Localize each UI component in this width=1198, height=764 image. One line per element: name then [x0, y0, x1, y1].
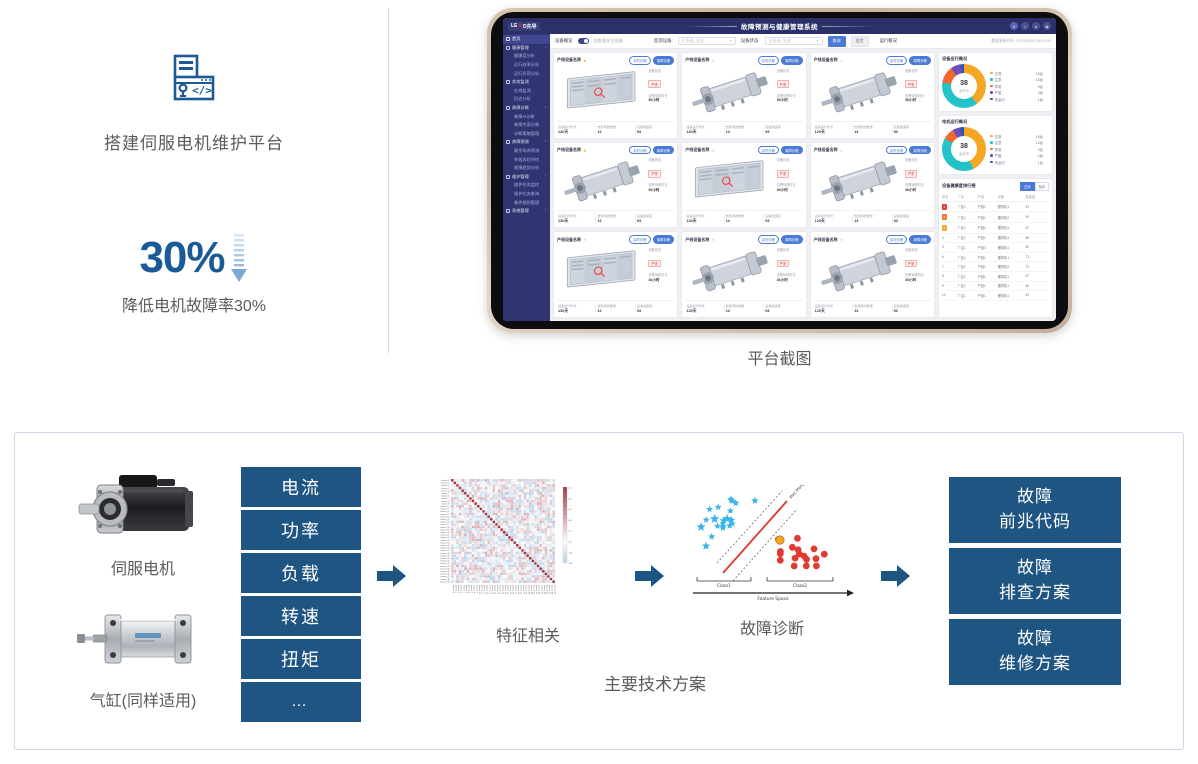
health-value: 93: [637, 309, 674, 313]
output-line1: 故障: [1017, 627, 1053, 652]
rank-cell: 5: [942, 243, 958, 253]
sidebar-item-19[interactable]: 备件规则管理: [503, 198, 550, 207]
svg-text:-0.4: -0.4: [568, 563, 573, 565]
right-arrow-icon: [635, 563, 665, 589]
servo-motor-photo: [73, 461, 213, 551]
legend-dot: [990, 72, 993, 75]
status-label: 设备状态: [905, 157, 931, 162]
alarm-cell: 告警项的数量 12: [725, 303, 764, 314]
sidebar-item-label: 诊断策略管理: [514, 131, 539, 137]
card-header: 产线设备名称 ★ 实时诊断 故障诊断: [557, 235, 674, 244]
svg-text:feature_5: feature_5: [465, 585, 468, 593]
tablet-device: LE A D先导 故障预测与健康管理系统 ● ⌂ ● ◉: [487, 8, 1072, 333]
device-run-overview-card: 设备运行概况 38 运行中 正常 16台 注意 15台 异常 5台: [938, 52, 1053, 112]
monitor-icon: [506, 80, 510, 84]
device-cell: 搅拌机3: [998, 222, 1026, 233]
chevron-icon: ⌃: [544, 175, 547, 179]
device-status-block: 设备状态 严重 告警待修时长 36小时: [905, 67, 931, 119]
health-cell: 86: [1026, 233, 1050, 243]
sidebar-item-10[interactable]: 故障专家诊断: [503, 121, 550, 130]
wait-value: 36小时: [777, 188, 803, 193]
wait-value: 36小时: [905, 278, 931, 283]
star-icon[interactable]: ★: [583, 237, 587, 242]
card-header: 产线设备名称 ★ 实时诊断 故障诊断: [814, 235, 931, 244]
device-name: 产线设备名称: [685, 147, 709, 153]
star-icon[interactable]: ★: [583, 148, 587, 153]
svg-text:feature_3: feature_3: [441, 487, 449, 490]
svg-text:feature_1: feature_1: [441, 482, 449, 485]
device-cell: 搅拌机1: [998, 243, 1026, 253]
table-row[interactable]: 5 厂区1 产线3 搅拌机1 82: [942, 243, 1049, 253]
donut-legend: 正常 16台 注意 15台 异常 5台 严重 3台 未运行 1台: [990, 70, 1049, 103]
svg-text:feature_13: feature_13: [486, 585, 489, 594]
star-icon[interactable]: ★: [711, 237, 715, 242]
alarm-label: 告警项的数量: [726, 124, 763, 129]
wait-value: 36小时: [777, 278, 803, 283]
svg-text:feature_29: feature_29: [527, 585, 530, 594]
legend-value: 2台: [1038, 153, 1043, 158]
runtime-label: 设备运行时长: [558, 303, 595, 308]
device-card[interactable]: 产线设备名称 ★ 实时诊断 故障诊断 设备状态 严重 告警待修时长 36小时 设…: [553, 231, 678, 318]
filter-toolbar: 设备概览 仅查看关注设备 监测设备: 可多选, 全选 ▾ 设备状态: 可多选, …: [550, 34, 1056, 49]
status-label: 设备状态: [648, 68, 674, 73]
sidebar-item-9[interactable]: 故障AI诊断: [503, 112, 550, 121]
status-label: 设备状态: [777, 68, 803, 73]
sidebar-item-1[interactable]: 健康管理⌃: [503, 44, 550, 53]
legend-value: 14台: [1036, 140, 1043, 145]
fault-diagnose-button[interactable]: 故障诊断: [653, 56, 675, 65]
sidebar-item-8[interactable]: 故障诊断⌃: [503, 104, 550, 113]
device-card[interactable]: 产线设备名称 ★ 实时诊断 故障诊断 设备状态 严重 告警待修时长 36小时 设…: [810, 142, 935, 229]
rank-col-header: 设备: [998, 193, 1026, 202]
fault-diagnose-button[interactable]: 故障诊断: [781, 146, 803, 155]
device-card[interactable]: 产线设备名称 ★ 实时诊断 故障诊断 设备状态 严重 告警待修时长 36小时 设…: [681, 231, 806, 318]
card-footer: 设备运行时长 130天 告警项的数量 12 设备健康度 93: [557, 121, 674, 135]
reset-button[interactable]: 重置: [851, 36, 869, 47]
health-cell: 93: [1026, 201, 1050, 212]
svg-text:feature_0: feature_0: [441, 479, 449, 482]
sidebar-item-label: 首页: [512, 36, 520, 42]
alarm-value: 12: [597, 130, 634, 134]
svg-text:feature_4: feature_4: [462, 585, 465, 593]
platform-code-icon: </>: [164, 50, 224, 110]
fault-diagnose-button[interactable]: 故障诊断: [909, 56, 931, 65]
area-cell: 厂区1: [958, 271, 978, 281]
wait-value: 36小时: [905, 98, 931, 103]
area-cell: 厂区1: [958, 262, 978, 272]
health-cell: 87: [1026, 222, 1050, 233]
svg-text:feature_30: feature_30: [440, 557, 449, 560]
health-cell: 90: [1026, 212, 1050, 223]
card-buttons: 实时诊断 故障诊断: [629, 56, 674, 65]
runtime-value: 130天: [558, 309, 595, 314]
fault-diagnose-button[interactable]: 故障诊断: [653, 235, 675, 244]
runtime-cell: 设备运行时长 120天: [814, 303, 853, 314]
sidebar-item-14[interactable]: 失效风险评估: [503, 155, 550, 164]
star-icon[interactable]: ★: [711, 148, 715, 153]
fault-diagnose-button[interactable]: 故障诊断: [781, 56, 803, 65]
device-status-block: 设备状态 严重 告警待修时长 36小时: [905, 246, 931, 298]
alarm-cell: 告警项的数量 13: [853, 124, 892, 135]
svg-text:Class1: Class1: [717, 583, 731, 588]
svg-text:feature_6: feature_6: [468, 585, 471, 593]
table-row[interactable]: 8 厂区1 产线1 搅拌机1 67: [942, 271, 1049, 281]
legend-value: 15台: [1036, 77, 1043, 82]
device-image: [685, 246, 773, 298]
table-row[interactable]: 1 厂区1 产线1 搅拌机1 93: [942, 201, 1049, 212]
health-cell: 设备健康度 93: [764, 213, 802, 224]
line-cell: 产线2: [978, 222, 998, 233]
realtime-diagnose-button[interactable]: 实时诊断: [629, 146, 651, 155]
chevron-icon: ⌃: [544, 46, 547, 50]
svg-text:feature_28: feature_28: [440, 552, 449, 555]
chevron-icon: ⌃: [544, 106, 547, 110]
star-icon[interactable]: ★: [711, 58, 715, 63]
runtime-cell: 设备运行时长 130天: [557, 124, 596, 135]
health-value: 93: [765, 219, 802, 223]
star-icon[interactable]: ★: [583, 58, 587, 63]
rank-cell: 3: [942, 222, 958, 233]
device-cell: 搅拌机2: [998, 212, 1026, 223]
sidebar-item-label: 维护管理: [512, 174, 529, 180]
sidebar-item-label: 历史分析: [514, 96, 531, 102]
svg-text:feature_9: feature_9: [441, 502, 449, 505]
svg-text:feature_17: feature_17: [440, 523, 449, 526]
motor-run-overview-card: 电机运行概况 38 运行中 正常 15台 注意 14台 异常 3台: [938, 115, 1053, 175]
table-row[interactable]: 4 厂区1 产线1 搅拌机3 86: [942, 233, 1049, 243]
fault-rate-caption: 降低电机故障率30%: [0, 292, 388, 316]
svg-text:feature_30: feature_30: [530, 585, 533, 594]
rank-col-header: 产线: [978, 193, 998, 202]
svg-text:feature_23: feature_23: [512, 585, 515, 594]
health-label: 设备健康度: [765, 213, 802, 218]
sidebar-item-3[interactable]: 运行效率分析: [503, 61, 550, 70]
sidebar-item-17[interactable]: 维护任务监控: [503, 181, 550, 190]
sidebar-item-label: 健康管理: [512, 45, 529, 51]
medal-icon: 3: [942, 225, 947, 231]
runtime-value: 130天: [558, 130, 595, 135]
card-footer: 设备运行时长 120天 告警项的数量 13 设备健康度 93: [814, 210, 931, 224]
table-row[interactable]: 9 厂区1 产线1 搅拌机1 66: [942, 281, 1049, 291]
device-cell: 搅拌机1: [998, 201, 1026, 212]
card-title: 设备运行概况: [942, 56, 1049, 62]
svg-text:feature_10: feature_10: [478, 585, 481, 594]
rank-header: 设备健康度排行榜 正序倒序: [942, 182, 1049, 191]
svg-text:feature_19: feature_19: [440, 528, 449, 531]
realtime-diagnose-button[interactable]: 实时诊断: [629, 56, 651, 65]
fault-diagnose-button[interactable]: 故障诊断: [909, 146, 931, 155]
sidebar-item-7[interactable]: 历史分析: [503, 95, 550, 104]
card-header: 产线设备名称 ★ 实时诊断 故障诊断: [557, 56, 674, 65]
device-status-value: 可多选, 全选: [769, 38, 791, 44]
svg-text:feature_32: feature_32: [535, 585, 538, 594]
equipment-servo-motor: 伺服电机: [73, 461, 213, 579]
wait-label: 告警待修时长: [777, 93, 803, 98]
svg-text:Max Margin: Max Margin: [788, 485, 808, 500]
wait-label: 告警待修时长: [648, 182, 674, 187]
svg-text:feature_5: feature_5: [441, 492, 449, 495]
device-card[interactable]: 产线设备名称 ★ 实时诊断 故障诊断 设备状态 严重 告警待修时长 36小时 设…: [681, 142, 806, 229]
device-name: 产线设备名称: [557, 147, 581, 153]
app-body: 首页健康管理⌃健康度分析运行效率分析运行负荷分析状态监测在线监测历史分析故障诊断…: [503, 34, 1056, 321]
svg-text:feature_12: feature_12: [440, 510, 449, 513]
signal-list: 电流功率负载转速扭矩…: [241, 467, 361, 725]
runtime-label: 设备运行时长: [686, 213, 723, 218]
signal-box-0: 电流: [241, 467, 361, 507]
sidebar-item-label: 健康度分析: [514, 53, 535, 59]
health-value: 93: [894, 130, 931, 134]
legend-value: 3台: [1038, 147, 1043, 152]
right-arrow-icon: [377, 563, 407, 589]
table-row[interactable]: 6 厂区1 产线1 搅拌机1 73: [942, 252, 1049, 262]
bell-icon[interactable]: ●: [1032, 22, 1040, 30]
svg-text:feature_29: feature_29: [440, 554, 449, 557]
wait-label: 告警待修时长: [905, 93, 931, 98]
device-card[interactable]: 产线设备名称 ★ 实时诊断 故障诊断 设备状态 严重 告警待修时长 36小时 设…: [810, 52, 935, 139]
legend-name: 异常: [995, 84, 1011, 89]
card-header: 产线设备名称 ★ 实时诊断 故障诊断: [557, 146, 674, 155]
device-card[interactable]: 产线设备名称 ★ 实时诊断 故障诊断 设备状态 严重 告警待修时长 36小时 设…: [553, 142, 678, 229]
table-row[interactable]: 7 厂区1 产线1 搅拌机2 73: [942, 262, 1049, 272]
fault-diagnose-button[interactable]: 故障诊断: [909, 235, 931, 244]
legend-dot: [990, 135, 993, 138]
sidebar-item-15[interactable]: 故障趋势分析: [503, 164, 550, 173]
realtime-diagnose-button[interactable]: 实时诊断: [629, 235, 651, 244]
status-badge: 严重: [905, 260, 917, 268]
realtime-diagnose-button[interactable]: 实时诊断: [886, 146, 908, 155]
svg-text:feature_39: feature_39: [440, 580, 449, 583]
correlation-heatmap: feature_0feature_0feature_1feature_1feat…: [433, 475, 623, 610]
runtime-cell: 设备运行时长 130天: [557, 303, 596, 314]
sidebar-item-16[interactable]: 维护管理⌃: [503, 173, 550, 182]
alarm-label: 告警项的数量: [854, 213, 891, 218]
gear-icon: [506, 209, 510, 213]
runtime-value: 120天: [686, 130, 723, 135]
rank-cell: 6: [942, 252, 958, 262]
legend-dot: [990, 78, 993, 81]
home-icon: [506, 37, 510, 41]
legend-value: 15台: [1036, 134, 1043, 139]
card-footer: 设备运行时长 120天 告警项的数量 12 设备健康度 93: [685, 121, 802, 135]
title-decoration-right: [822, 26, 874, 27]
line-cell: 产线3: [978, 243, 998, 253]
health-value: 93: [637, 130, 674, 134]
health-value: 93: [894, 219, 931, 223]
device-status-block: 设备状态 严重 告警待修时长 36小时: [777, 246, 803, 298]
line-cell: 产线1: [978, 271, 998, 281]
device-status-select[interactable]: 可多选, 全选 ▾: [765, 37, 823, 45]
device-cell: 搅拌机1: [998, 252, 1026, 262]
user-icon[interactable]: ●: [1010, 22, 1018, 30]
device-card[interactable]: 产线设备名称 ★ 实时诊断 故障诊断 设备状态 严重 告警待修时长 36小时 设…: [553, 52, 678, 139]
equipment-column: 伺服电机: [73, 461, 213, 711]
device-status-block: 设备状态 严重 告警待修时长 36小时: [777, 67, 803, 119]
status-badge: 严重: [905, 80, 917, 88]
rank-tab[interactable]: 正序: [1020, 182, 1034, 191]
platform-caption: 搭建伺服电机维护平台: [0, 129, 388, 154]
status-badge: 严重: [648, 80, 660, 88]
technical-solution-panel: 伺服电机: [14, 432, 1184, 750]
area-cell: 厂区1: [958, 281, 978, 291]
realtime-diagnose-button[interactable]: 实时诊断: [758, 56, 780, 65]
svg-text:-0.2: -0.2: [568, 552, 573, 554]
legend-name: 严重: [995, 153, 1011, 158]
card-middle: 设备状态 严重 告警待修时长 36小时: [685, 156, 802, 208]
rank-tab[interactable]: 倒序: [1035, 182, 1049, 191]
chevron-down-icon: ▾: [817, 39, 819, 43]
svg-text:feature_9: feature_9: [475, 585, 478, 593]
runtime-cell: 设备运行时长 120天: [814, 124, 853, 135]
svg-text:feature_17: feature_17: [496, 585, 499, 594]
health-label: 设备健康度: [765, 124, 802, 129]
realtime-diagnose-button[interactable]: 实时诊断: [758, 146, 780, 155]
device-card[interactable]: 产线设备名称 ★ 实时诊断 故障诊断 设备状态 严重 告警待修时长 36小时 设…: [681, 52, 806, 139]
sidebar-item-13[interactable]: 剩余寿命预测: [503, 147, 550, 156]
sidebar-item-2[interactable]: 健康度分析: [503, 52, 550, 61]
realtime-diagnose-button[interactable]: 实时诊断: [886, 235, 908, 244]
power-icon[interactable]: ◉: [1043, 22, 1051, 30]
health-cell: 设备健康度 93: [893, 303, 931, 314]
svg-text:feature_13: feature_13: [440, 513, 449, 516]
alarm-label: 告警项的数量: [597, 213, 634, 218]
device-image: [557, 156, 645, 208]
stage-caption: 特征相关: [433, 622, 623, 646]
card-buttons: 实时诊断 故障诊断: [886, 56, 931, 65]
table-row[interactable]: 10 厂区1 产线1 搅拌机1 63: [942, 291, 1049, 301]
sidebar-item-20[interactable]: 系统管理⌃: [503, 207, 550, 216]
equipment-caption: 伺服电机: [73, 555, 213, 579]
runtime-value: 130天: [558, 219, 595, 224]
donut-number: 38: [960, 80, 968, 87]
sidebar-item-11[interactable]: 诊断策略管理: [503, 130, 550, 139]
predict-icon: [506, 140, 510, 144]
device-name: 产线设备名称: [685, 57, 709, 63]
device-image: [557, 246, 645, 298]
realtime-diagnose-button[interactable]: 实时诊断: [886, 56, 908, 65]
alarm-value: 13: [854, 219, 891, 223]
status-label: 设备状态: [905, 68, 931, 73]
svg-text:feature_21: feature_21: [440, 534, 449, 537]
sidebar-item-label: 故障专家诊断: [514, 122, 539, 128]
table-row[interactable]: 2 厂区1 产线1 搅拌机2 90: [942, 212, 1049, 223]
favorites-toggle[interactable]: [578, 38, 589, 44]
signal-box-2: 负载: [241, 553, 361, 593]
donut-sublabel: 运行中: [959, 151, 969, 156]
sidebar-item-label: 失效风险评估: [514, 157, 539, 163]
health-cell: 设备健康度 93: [636, 213, 674, 224]
svg-text:feature_34: feature_34: [540, 585, 543, 594]
sidebar-item-4[interactable]: 运行负荷分析: [503, 69, 550, 78]
device-card[interactable]: 产线设备名称 ★ 实时诊断 故障诊断 设备状态 严重 告警待修时长 36小时 设…: [810, 231, 935, 318]
alarm-cell: 告警项的数量 12: [596, 303, 635, 314]
device-image: [814, 156, 902, 208]
fault-diagnose-button[interactable]: 故障诊断: [781, 235, 803, 244]
legend-row: 未运行 1台: [990, 96, 1049, 103]
device-image: [685, 156, 773, 208]
alarm-label: 告警项的数量: [726, 213, 763, 218]
fault-diagnose-button[interactable]: 故障诊断: [653, 146, 675, 155]
donut-center: 38 运行中: [951, 136, 977, 162]
line-cell: 产线1: [978, 262, 998, 272]
donut-chart: 38 运行中: [942, 64, 986, 108]
legend-value: 1台: [1038, 160, 1043, 165]
medal-icon: 2: [942, 214, 947, 220]
line-cell: 产线1: [978, 212, 998, 223]
sidebar-item-label: 运行效率分析: [514, 62, 539, 68]
card-buttons: 实时诊断 故障诊断: [886, 146, 931, 155]
output-line2: 排查方案: [999, 581, 1071, 606]
card-header: 产线设备名称 ★ 实时诊断 故障诊断: [814, 146, 931, 155]
sidebar-item-label: 故障趋势分析: [514, 165, 539, 171]
alarm-label: 告警项的数量: [597, 303, 634, 308]
wait-label: 告警待修时长: [777, 182, 803, 187]
health-cell: 73: [1026, 262, 1050, 272]
output-line2: 前兆代码: [999, 510, 1071, 535]
card-middle: 设备状态 严重 告警待修时长 36小时: [814, 67, 931, 119]
runtime-value: 120天: [815, 130, 852, 135]
card-footer: 设备运行时长 120天 告警项的数量 13 设备健康度 93: [814, 121, 931, 135]
sidebar-item-12[interactable]: 故障预测⌃: [503, 138, 550, 147]
svg-text:feature_26: feature_26: [520, 585, 523, 594]
sidebar-item-label: 在线监测: [514, 88, 531, 94]
app-sidebar[interactable]: 首页健康管理⌃健康度分析运行效率分析运行负荷分析状态监测在线监测历史分析故障诊断…: [503, 34, 550, 321]
legend-dot: [990, 141, 993, 144]
sidebar-item-5[interactable]: 状态监测: [503, 78, 550, 87]
svg-text:feature_4: feature_4: [441, 489, 449, 492]
health-cell: 设备健康度 93: [893, 213, 931, 224]
svg-text:feature_33: feature_33: [440, 565, 449, 568]
device-name: 产线设备名称: [557, 237, 581, 243]
area-cell: 厂区1: [958, 291, 978, 301]
sidebar-item-0[interactable]: 首页: [503, 35, 550, 44]
main-technical-caption: 主要技术方案: [515, 670, 795, 695]
rank-tabs: 正序倒序: [1020, 182, 1049, 191]
monitor-device-select[interactable]: 可多选, 全选 ▾: [678, 37, 736, 45]
card-middle: 设备状态 严重 告警待修时长 36小时: [557, 67, 674, 119]
table-row[interactable]: 3 厂区1 产线2 搅拌机3 87: [942, 222, 1049, 233]
health-cell: 67: [1026, 271, 1050, 281]
sidebar-item-18[interactable]: 维护任务查询: [503, 190, 550, 199]
search-button[interactable]: 查询: [828, 36, 846, 47]
runtime-value: 120天: [686, 219, 723, 224]
alarm-value: 12: [726, 130, 763, 134]
signal-box-3: 转速: [241, 596, 361, 636]
svg-text:feature_7: feature_7: [470, 585, 473, 593]
svg-text:feature_8: feature_8: [441, 500, 449, 503]
rank-cell: 8: [942, 271, 958, 281]
svg-text:feature_16: feature_16: [494, 585, 497, 594]
legend-name: 严重: [995, 90, 1011, 95]
tablet-frame: LE A D先导 故障预测与健康管理系统 ● ⌂ ● ◉: [487, 8, 1072, 333]
card-header: 产线设备名称 ★ 实时诊断 故障诊断: [685, 56, 802, 65]
home-icon[interactable]: ⌂: [1021, 22, 1029, 30]
svg-text:feature_34: feature_34: [440, 567, 449, 570]
air-cylinder-photo: [73, 593, 213, 683]
run-status-label: 运行概况: [880, 38, 898, 44]
star-icon[interactable]: ★: [840, 148, 844, 153]
realtime-diagnose-button[interactable]: 实时诊断: [758, 235, 780, 244]
device-cell: 搅拌机1: [998, 271, 1026, 281]
star-icon[interactable]: ★: [840, 58, 844, 63]
down-arrow-icon: [229, 232, 249, 284]
sidebar-item-6[interactable]: 在线监测: [503, 87, 550, 96]
svg-text:0.6: 0.6: [568, 509, 572, 511]
svg-text:feature_35: feature_35: [543, 585, 546, 594]
alarm-value: 13: [854, 130, 891, 134]
health-value: 93: [637, 219, 674, 223]
donut-chart: 38 运行中: [942, 127, 986, 171]
star-icon[interactable]: ★: [840, 237, 844, 242]
